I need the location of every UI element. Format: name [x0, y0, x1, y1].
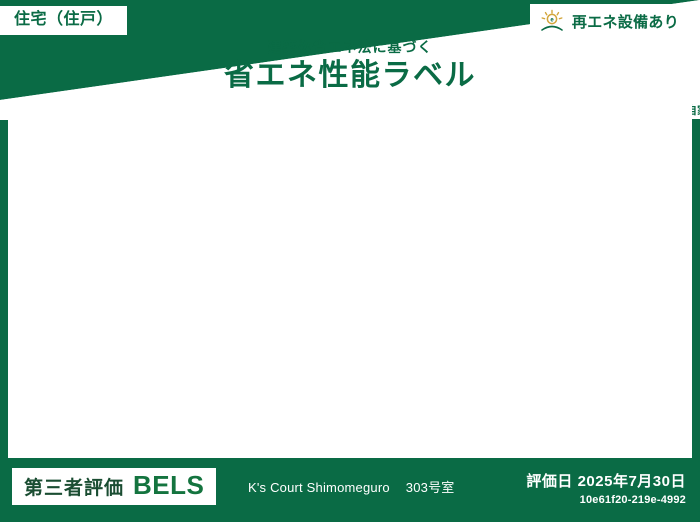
bels-certification-chip: 第三者評価 BELS	[12, 468, 216, 505]
energy-performance-label: 住宅（住戸） e 再エネ設備あり 建築物省エネ法に基づく 省エネ性能ラベル	[0, 0, 700, 522]
housing-type-tag: 住宅（住戸）	[0, 6, 127, 35]
renewable-badge-label: 再エネ設備あり	[572, 11, 679, 32]
label-title-block: 建築物省エネ法に基づく 省エネ性能ラベル	[0, 40, 700, 92]
building-name: K's Court Shimomeguro303号室	[248, 477, 455, 496]
building-name-text: K's Court Shimomeguro	[248, 480, 390, 495]
title-subtitle: 建築物省エネ法に基づく	[0, 40, 700, 54]
bels-en-label: BELS	[133, 472, 204, 498]
evaluation-id: 10e61f20-219e-4992	[526, 494, 686, 506]
evaluation-info: 評価日 2025年7月30日 10e61f20-219e-4992	[526, 470, 686, 506]
content-card	[8, 100, 692, 458]
room-number: 303号室	[406, 480, 455, 495]
bels-jp-label: 第三者評価	[24, 473, 124, 500]
title-main: 省エネ性能ラベル	[0, 60, 700, 92]
evaluation-date: 評価日 2025年7月30日	[526, 470, 686, 491]
footer: 第三者評価 BELS K's Court Shimomeguro303号室 評価…	[0, 458, 700, 522]
renewable-equipment-badge: e 再エネ設備あり	[530, 4, 690, 39]
sun-icon: e	[539, 9, 565, 33]
